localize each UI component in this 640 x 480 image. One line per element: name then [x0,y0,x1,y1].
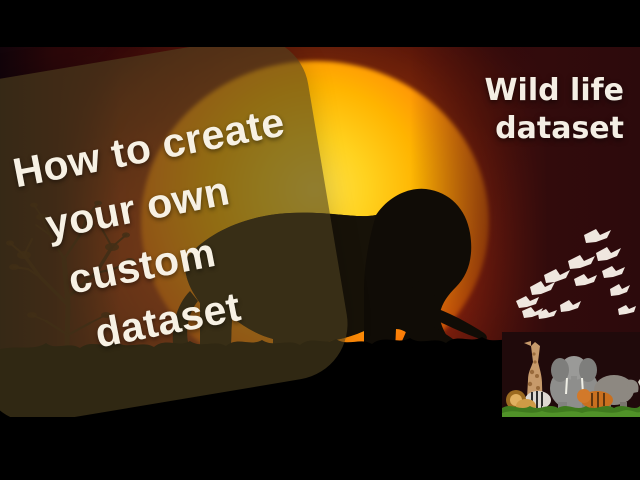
video-thumbnail: How to create your own custom dataset Wi… [0,0,640,480]
letterbox-top [0,0,640,47]
title-overlay-panel [0,47,356,417]
wildlife-animal-collage [502,332,640,417]
caption-block: Wild life dataset [484,72,624,148]
flying-birds-flock [508,213,640,329]
caption-line-1: Wild life [484,72,624,110]
caption-line-2: dataset [484,110,624,148]
letterbox-bottom [0,417,640,480]
